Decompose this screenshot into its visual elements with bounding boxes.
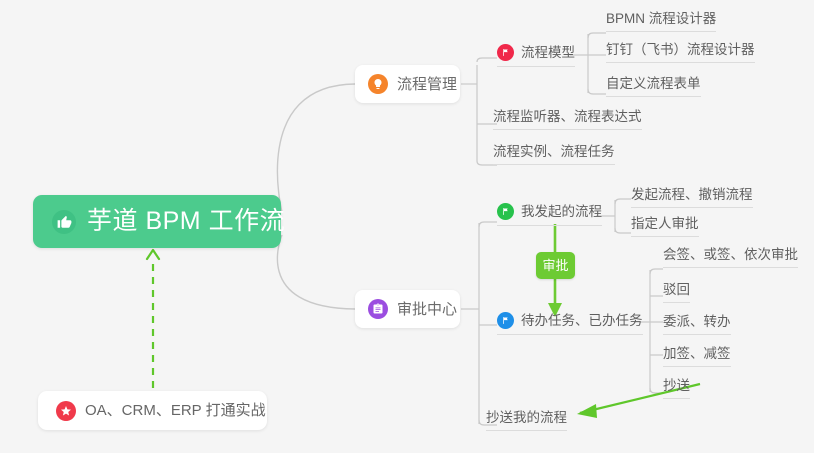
root-node[interactable]: 芋道 BPM 工作流: [33, 195, 281, 248]
clipboard-icon: [368, 299, 388, 319]
branch-approval-center-label: 审批中心: [397, 302, 457, 317]
flag-icon: [497, 203, 514, 220]
branch-process-management[interactable]: 流程管理: [355, 65, 460, 103]
leaf-cc[interactable]: 抄送: [663, 379, 690, 399]
topic-my-initiated-process-label: 我发起的流程: [521, 205, 602, 219]
topic-todo-done-tasks-label: 待办任务、已办任务: [521, 314, 643, 328]
leaf-bpmn-designer[interactable]: BPMN 流程设计器: [606, 12, 716, 32]
leaf-process-listener-expression[interactable]: 流程监听器、流程表达式: [493, 110, 642, 130]
leaf-cc-to-me-process[interactable]: 抄送我的流程: [486, 411, 567, 431]
leaf-assignee-approval[interactable]: 指定人审批: [631, 217, 699, 237]
branch-process-management-label: 流程管理: [397, 77, 457, 92]
root-label: 芋道 BPM 工作流: [87, 209, 285, 234]
leaf-add-remove-sign[interactable]: 加签、减签: [663, 347, 731, 367]
topic-todo-done-tasks[interactable]: 待办任务、已办任务: [497, 312, 643, 335]
leaf-process-instance-task[interactable]: 流程实例、流程任务: [493, 145, 615, 165]
leaf-countersign-or-sequential[interactable]: 会签、或签、依次审批: [663, 248, 798, 268]
leaf-dingtalk-feishu-designer[interactable]: 钉钉（飞书）流程设计器: [606, 43, 755, 63]
topic-process-model[interactable]: 流程模型: [497, 44, 575, 67]
lightbulb-icon: [368, 74, 388, 94]
annotation-approve-chip: 审批: [536, 252, 575, 279]
topic-my-initiated-process[interactable]: 我发起的流程: [497, 203, 602, 226]
leaf-start-cancel-process[interactable]: 发起流程、撤销流程: [631, 188, 753, 208]
node-integration-practice-label: OA、CRM、ERP 打通实战: [85, 403, 266, 418]
branch-approval-center[interactable]: 审批中心: [355, 290, 460, 328]
flag-icon: [497, 312, 514, 329]
dashed-relation-arrow: [147, 250, 159, 388]
thumbs-up-icon: [52, 210, 76, 234]
topic-process-model-label: 流程模型: [521, 46, 575, 60]
star-icon: [56, 401, 76, 421]
node-integration-practice[interactable]: OA、CRM、ERP 打通实战: [38, 391, 267, 430]
leaf-reject[interactable]: 驳回: [663, 283, 690, 303]
leaf-custom-process-form[interactable]: 自定义流程表单: [606, 77, 701, 97]
flag-icon: [497, 44, 514, 61]
leaf-delegate-transfer[interactable]: 委派、转办: [663, 315, 731, 335]
mindmap-canvas: 芋道 BPM 工作流 流程管理 流程模型 BPMN 流程设计器 钉钉（飞书）流程…: [0, 0, 814, 453]
